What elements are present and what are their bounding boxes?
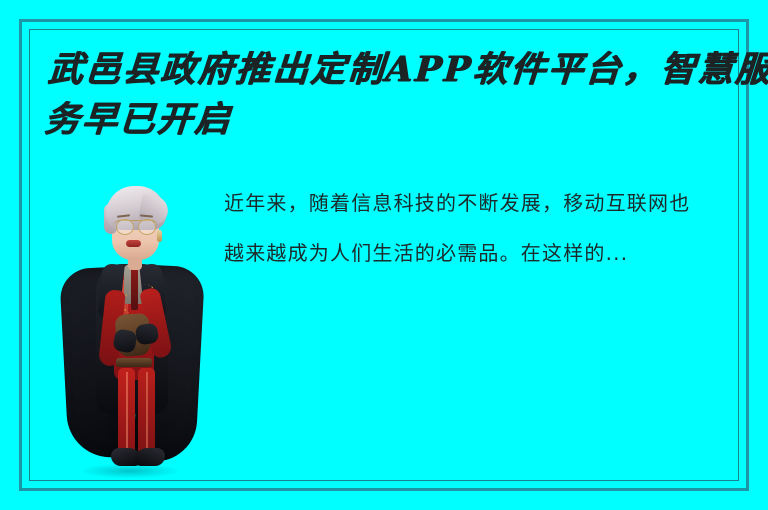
right-trouser-seam-shape <box>146 372 148 450</box>
lips-shape <box>126 240 141 247</box>
glasses-left-lens-shape <box>116 219 134 235</box>
earring-shape <box>157 230 162 242</box>
character-illustration <box>56 172 206 484</box>
right-shoe-shape <box>135 448 165 466</box>
article-headline: 武邑县政府推出定制APP软件平台，智慧服务早已开启 <box>43 45 768 144</box>
glasses-right-lens-shape <box>138 219 156 235</box>
left-trouser-seam-shape <box>126 372 128 450</box>
article-card: 武邑县政府推出定制APP软件平台，智慧服务早已开启 <box>0 0 768 510</box>
article-excerpt: 近年来，随着信息科技的不断发展，移动互联网也越来越成为人们生活的必需品。在这样的… <box>224 178 704 278</box>
ground-shadow-shape <box>82 464 178 478</box>
belt-shape <box>116 358 152 367</box>
